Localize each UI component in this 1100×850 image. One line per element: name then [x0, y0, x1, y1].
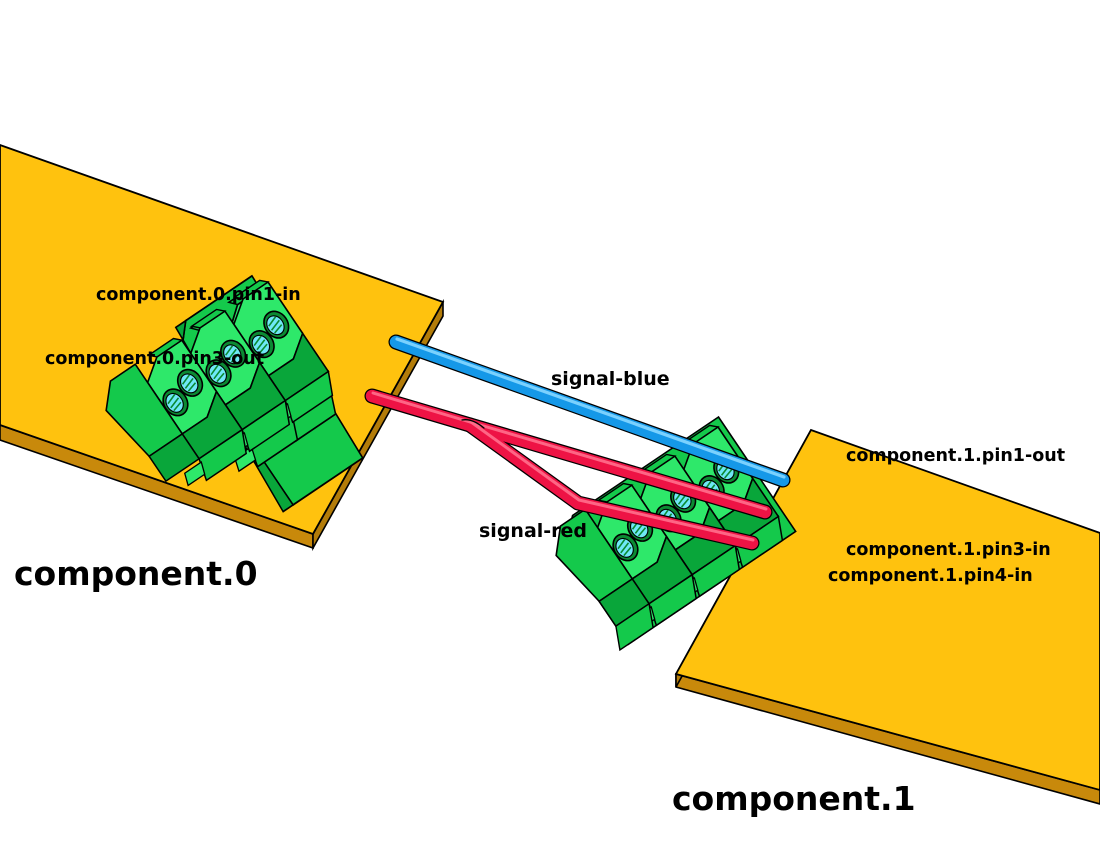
- pin-label-c0-pin3-out: component.0.pin3-out: [45, 349, 264, 369]
- signal-label-red: signal-red: [479, 520, 587, 542]
- pin-label-c1-pin1-out: component.1.pin1-out: [846, 446, 1065, 466]
- diagram-canvas: component.0.pin1-in component.0.pin3-out…: [0, 0, 1100, 850]
- pin-label-c1-pin4-in: component.1.pin4-in: [828, 566, 1033, 586]
- component-1-title: component.1: [672, 779, 916, 818]
- component-0-title: component.0: [14, 554, 258, 593]
- wiring-diagram-scene: component.0.pin1-in component.0.pin3-out…: [0, 0, 1100, 850]
- pin-label-c1-pin3-in: component.1.pin3-in: [846, 540, 1051, 560]
- component-0-group[interactable]: component.0.pin1-in component.0.pin3-out…: [0, 145, 443, 593]
- pin-label-c0-pin1-in: component.0.pin1-in: [96, 285, 301, 305]
- signal-label-blue: signal-blue: [551, 368, 670, 390]
